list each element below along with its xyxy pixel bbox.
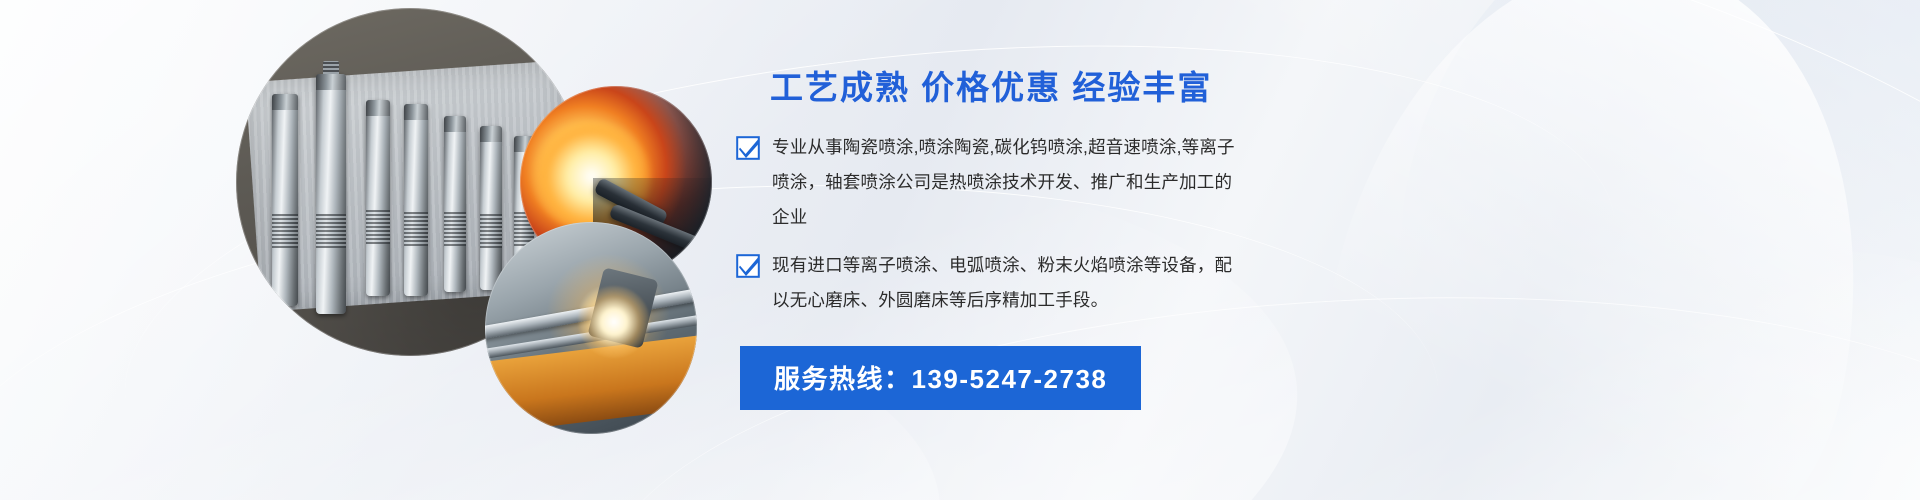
feature-text: 现有进口等离子喷涂、电弧喷涂、粉末火焰喷涂等设备，配以无心磨床、外圆磨床等后序精… [772,248,1242,318]
feature-list: 专业从事陶瓷喷涂,喷涂陶瓷,碳化钨喷涂,超音速喷涂,等离子喷涂，轴套喷涂公司是热… [736,130,1530,318]
feature-item: 现有进口等离子喷涂、电弧喷涂、粉末火焰喷涂等设备，配以无心磨床、外圆磨床等后序精… [736,248,1530,318]
grinding-photo [485,222,697,434]
feature-text: 专业从事陶瓷喷涂,喷涂陶瓷,碳化钨喷涂,超音速喷涂,等离子喷涂，轴套喷涂公司是热… [772,130,1242,235]
check-box-icon [736,254,760,278]
banner-headline: 工艺成熟 价格优惠 经验丰富 [770,68,1530,108]
banner-content: 工艺成熟 价格优惠 经验丰富 专业从事陶瓷喷涂,喷涂陶瓷,碳化钨喷涂,超音速喷涂… [770,68,1530,410]
hotline-button[interactable]: 服务热线：139-5247-2738 [740,346,1141,410]
feature-item: 专业从事陶瓷喷涂,喷涂陶瓷,碳化钨喷涂,超音速喷涂,等离子喷涂，轴套喷涂公司是热… [736,130,1530,235]
check-box-icon [736,136,760,160]
photo-edge [485,222,697,434]
promo-banner: 工艺成熟 价格优惠 经验丰富 专业从事陶瓷喷涂,喷涂陶瓷,碳化钨喷涂,超音速喷涂… [0,0,1920,500]
